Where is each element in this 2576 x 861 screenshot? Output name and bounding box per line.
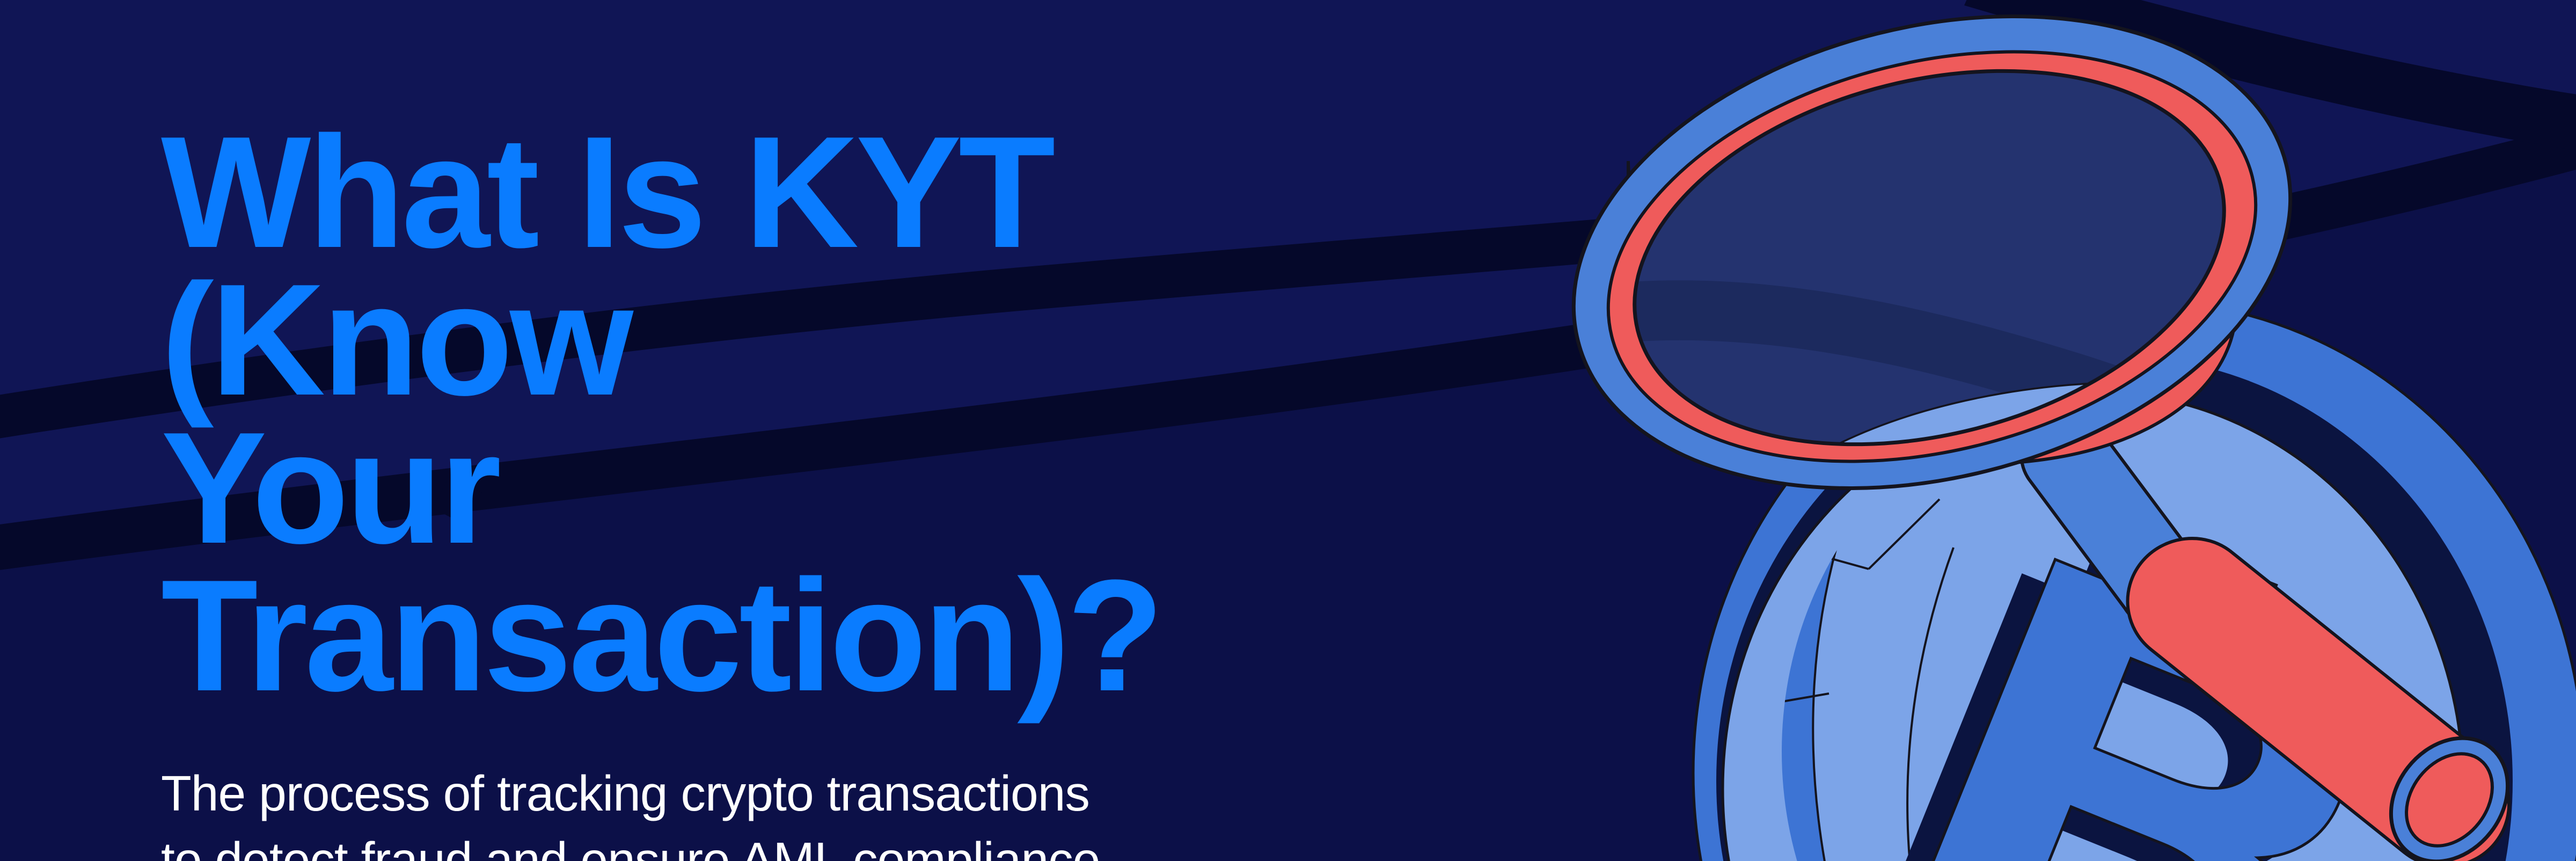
kyt-hero-banner: What Is KYT (Know Your Transaction)? The… — [0, 0, 2576, 861]
hero-text-block: What Is KYT (Know Your Transaction)? The… — [161, 118, 1503, 861]
page-title: What Is KYT (Know Your Transaction)? — [161, 118, 1503, 709]
page-subtitle: The process of tracking crypto transacti… — [161, 761, 1503, 861]
